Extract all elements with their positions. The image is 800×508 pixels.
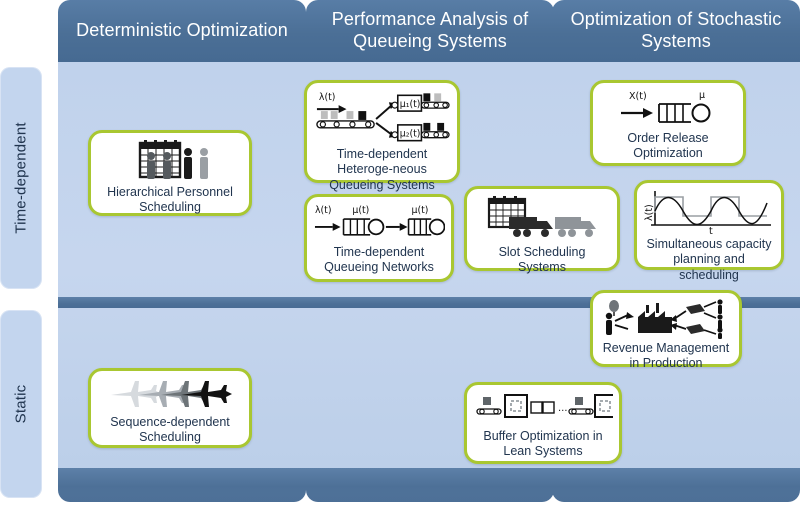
row-label-static: Static <box>0 310 42 498</box>
card-caption: Hierarchical Personnel Scheduling <box>97 185 243 216</box>
column-footer-bar <box>306 468 554 502</box>
single-queue-icon: X(t) μ <box>599 89 737 129</box>
branching-conveyor-queue-icon: λ(t) <box>313 89 451 145</box>
tandem-queue-icon: λ(t) μ(t) μ(t) <box>313 203 445 243</box>
column-header-performance-analysis-queueing: Performance Analysis of Queueing Systems <box>306 0 554 62</box>
sine-wave-step-chart-icon: λ(t) t <box>643 189 775 235</box>
card-caption: Revenue Management in Production <box>599 341 733 372</box>
card-caption: Order Release Optimization <box>599 131 737 162</box>
row-label-static-text: Static <box>13 385 30 424</box>
card-caption: Time-dependent Heteroge-neous Queueing S… <box>313 147 451 193</box>
column-header-optimization-stochastic: Optimization of Stochastic Systems <box>552 0 800 62</box>
card-caption: Time-dependent Queueing Networks <box>313 245 445 276</box>
service-rate-1-label: μ₁(t) <box>400 99 421 110</box>
column-footer-bar <box>58 468 306 502</box>
calendar-trucks-icon <box>473 195 611 243</box>
column-footer-bar <box>552 468 800 502</box>
factory-distribution-network-icon <box>599 299 733 339</box>
card-hierarchical-personnel-scheduling[interactable]: Hierarchical Personnel Scheduling <box>88 130 252 216</box>
row-label-time-dependent-text: Time-dependent <box>13 122 30 233</box>
card-caption: Buffer Optimization in Lean Systems <box>473 429 613 460</box>
service-rate-1-label: μ(t) <box>352 205 369 216</box>
conveyor-buffer-machines-icon: … <box>473 391 613 427</box>
service-rate-2-label: μ₂(t) <box>400 129 421 140</box>
card-time-dependent-queueing-networks[interactable]: λ(t) μ(t) μ(t) Time- <box>304 194 454 282</box>
calendar-with-people-icon <box>97 139 243 183</box>
card-revenue-management-in-production[interactable]: Revenue Management in Production <box>590 290 742 367</box>
state-variable-label: X(t) <box>629 91 647 102</box>
row-label-time-dependent: Time-dependent <box>0 67 42 289</box>
card-time-dependent-heterogeneous-queueing-systems[interactable]: λ(t) <box>304 80 460 183</box>
airplanes-sequence-icon <box>97 377 243 413</box>
arrival-rate-label: λ(t) <box>315 205 332 216</box>
card-buffer-optimization-in-lean-systems[interactable]: … Buffer Optimization in Lean Systems <box>464 382 622 464</box>
service-rate-2-label: μ(t) <box>412 205 429 216</box>
card-order-release-optimization[interactable]: X(t) μ Order Release Optimization <box>590 80 746 166</box>
service-rate-label: μ <box>699 90 705 101</box>
ellipsis-label: … <box>558 403 568 414</box>
card-simultaneous-capacity-planning[interactable]: λ(t) t Simultaneous capacity planning an… <box>634 180 784 270</box>
column-header-deterministic-optimization: Deterministic Optimization <box>58 0 306 62</box>
card-caption: Simultaneous capacity planning and sched… <box>643 237 775 283</box>
card-sequence-dependent-scheduling[interactable]: Sequence-dependent Scheduling <box>88 368 252 448</box>
chart-x-axis-label: t <box>709 226 713 235</box>
chart-y-axis-label: λ(t) <box>644 204 655 221</box>
card-slot-scheduling-systems[interactable]: Slot Scheduling Systems <box>464 186 620 271</box>
row-divider-bar <box>58 297 306 308</box>
card-caption: Sequence-dependent Scheduling <box>97 415 243 446</box>
arrival-rate-label: λ(t) <box>319 92 336 103</box>
card-caption: Slot Scheduling Systems <box>473 245 611 276</box>
figure-canvas: Time-dependent Static Deterministic Opti… <box>0 0 800 508</box>
row-divider-bar <box>306 297 554 308</box>
